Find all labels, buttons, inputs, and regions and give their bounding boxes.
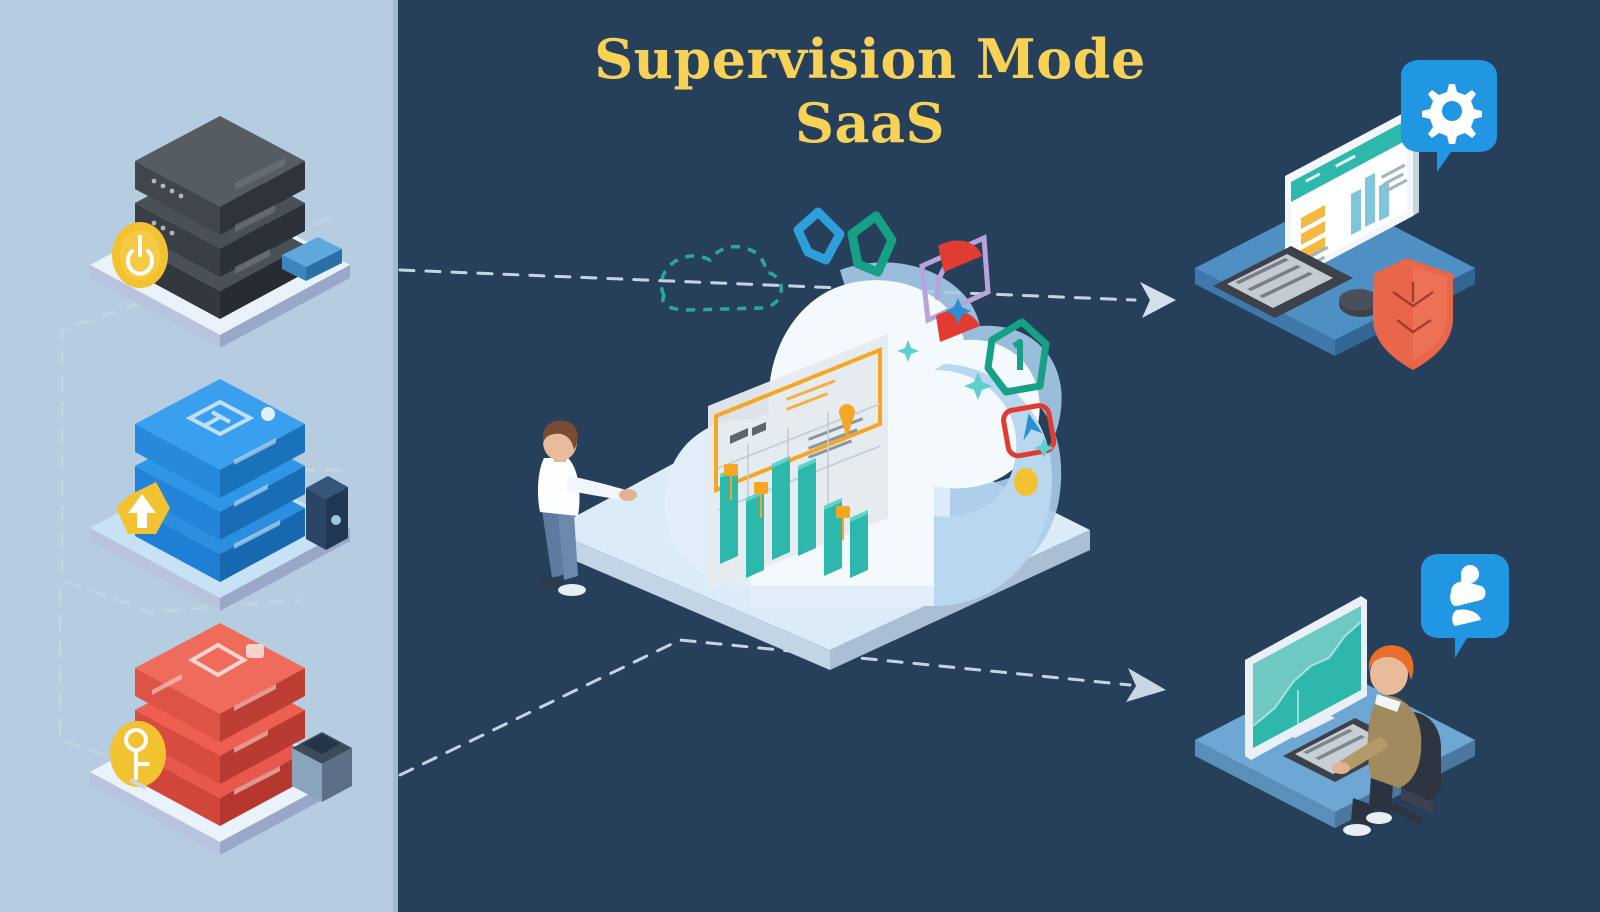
tag-glyph bbox=[246, 644, 264, 658]
sidebar-item-server-red[interactable] bbox=[70, 612, 370, 842]
illustration-canvas: Supervision Mode SaaS bbox=[0, 0, 1600, 912]
bar-1 bbox=[720, 466, 738, 564]
analyst-workstation[interactable] bbox=[1175, 540, 1515, 850]
tower-unit bbox=[306, 476, 348, 550]
bar-3 bbox=[772, 456, 790, 560]
title-line-2: SaaS bbox=[560, 92, 1180, 156]
page-title: Supervision Mode SaaS bbox=[560, 28, 1180, 155]
chart-divider bbox=[1297, 690, 1299, 724]
sidebar-item-server-dark[interactable] bbox=[70, 105, 370, 335]
hand bbox=[1332, 762, 1350, 774]
bar-4 bbox=[798, 458, 816, 556]
status-dot bbox=[261, 407, 275, 421]
support-bubble[interactable] bbox=[1421, 554, 1509, 658]
hand bbox=[619, 489, 637, 501]
title-line-1: Supervision Mode bbox=[594, 27, 1146, 91]
shoe-2 bbox=[1366, 812, 1392, 824]
bar-6 bbox=[850, 510, 868, 578]
yellow-dot-icon bbox=[1014, 468, 1038, 496]
dashed-cloud-outline bbox=[661, 247, 781, 310]
sidebar-item-server-blue[interactable] bbox=[70, 368, 370, 598]
gear-icon bbox=[1422, 84, 1482, 144]
supervisor-workstation[interactable] bbox=[1165, 70, 1505, 400]
security-shield[interactable] bbox=[1373, 258, 1453, 370]
shoe-front bbox=[558, 584, 586, 596]
cloud-analytics-dashboard bbox=[708, 334, 888, 590]
standing-woman-operator bbox=[508, 418, 638, 608]
shoe bbox=[1343, 824, 1371, 836]
power-badge[interactable] bbox=[112, 222, 168, 288]
